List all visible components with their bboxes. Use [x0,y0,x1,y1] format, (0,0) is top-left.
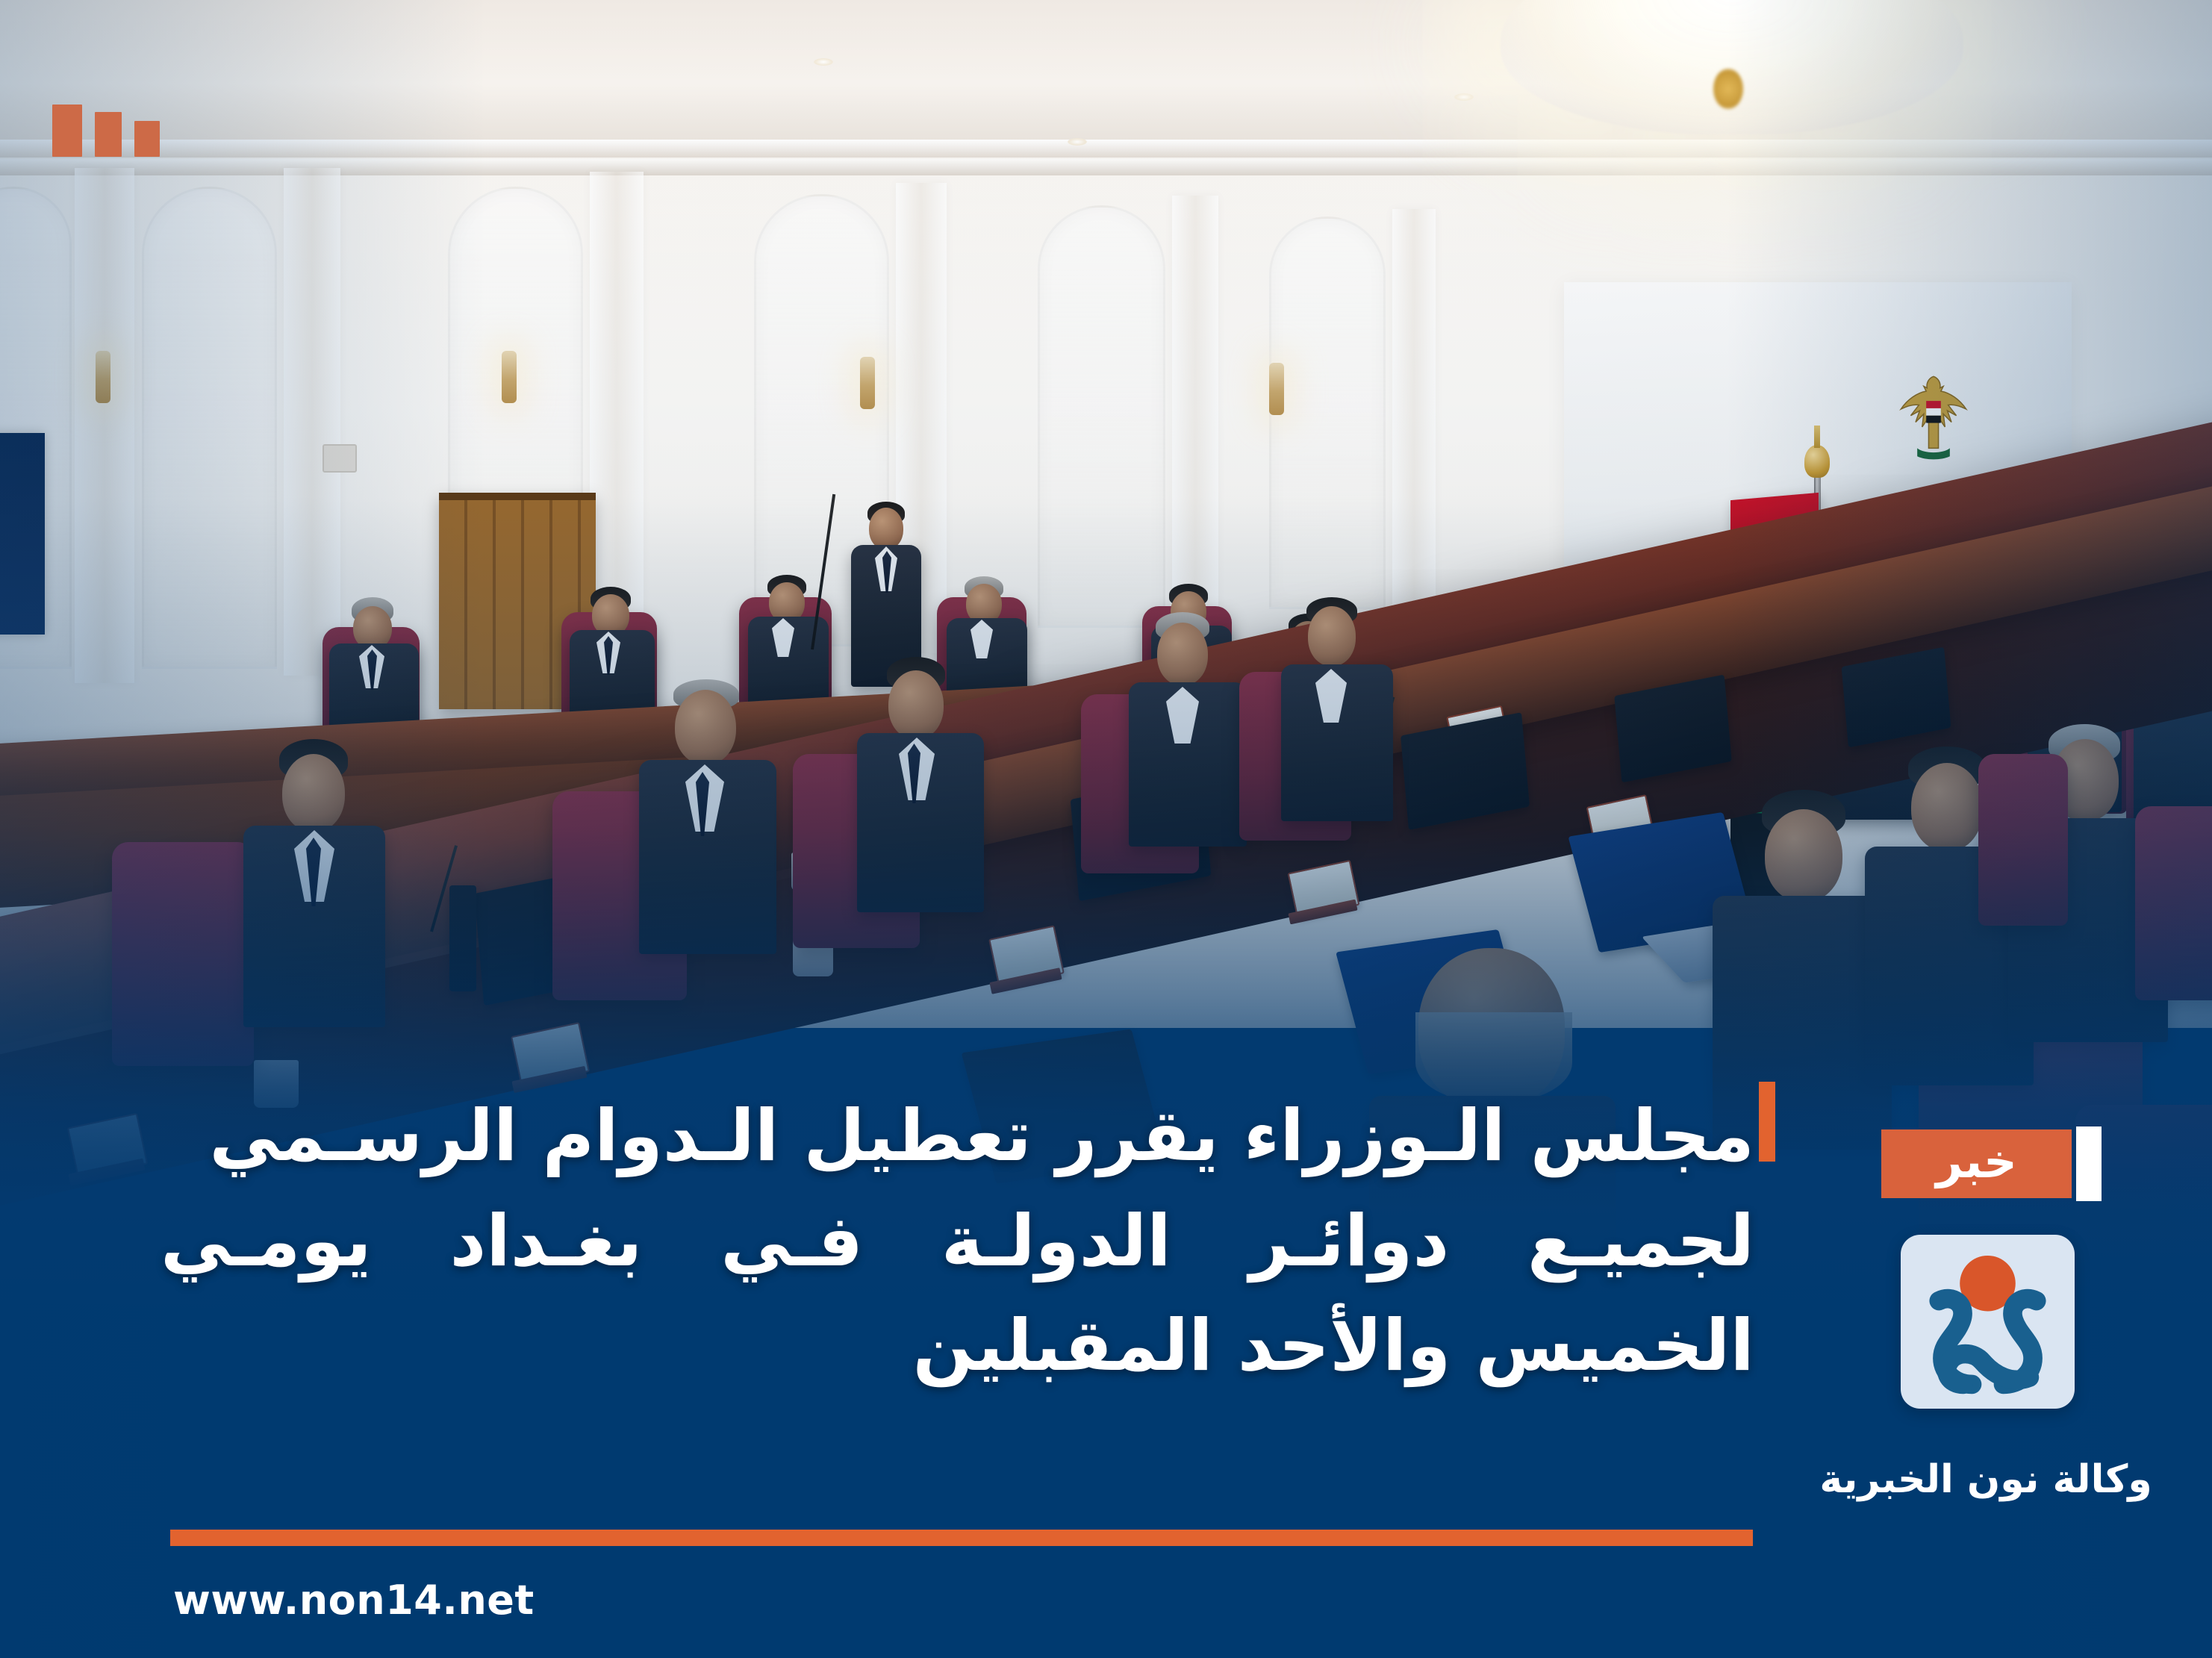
site-url[interactable]: www.non14.net [173,1577,535,1624]
brand-bar-1 [52,105,82,157]
agency-name: وكالة نون الخبرية [1777,1457,2195,1502]
news-card: الله أكبر [0,0,2212,1658]
brand-bars-mark [52,105,160,157]
meeting-room-photo: الله أكبر [0,0,2212,1658]
headline-accent-bar [1759,1082,1775,1162]
headline-line-1: مجلس الـوزراء يقرر تعطيل الـدوام الرسـمي [161,1084,1754,1189]
news-badge-label: خبر [1936,1138,2017,1185]
noon-agency-logo[interactable] [1901,1235,2075,1409]
brand-bar-3 [134,121,160,157]
footer-divider [170,1530,1753,1546]
headline-line-2: لجميـع دوائـر الدولـة فـي بغـداد يومـي [161,1189,1754,1294]
news-badge: خبر [1881,1129,2072,1198]
photo-side-vignette [0,0,2212,1658]
headline: مجلس الـوزراء يقرر تعطيل الـدوام الرسـمي… [161,1084,1754,1399]
brand-bar-2 [95,112,122,157]
news-badge-tick [2076,1126,2102,1201]
headline-line-3: الخميس والأحد المقبلين [161,1294,1754,1399]
